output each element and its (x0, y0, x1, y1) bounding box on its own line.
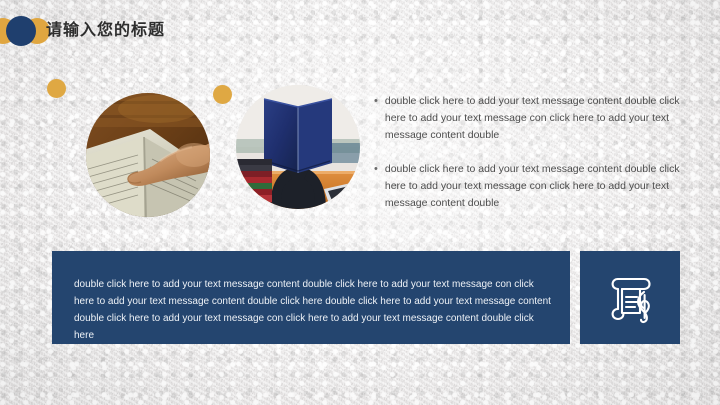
music-scroll-icon-graphic (604, 271, 656, 325)
bullet-marker-icon: • (374, 93, 378, 110)
bullet-text: double click here to add your text messa… (385, 161, 680, 212)
page-title: 请输入您的标题 (46, 16, 165, 40)
bullet-text: double click here to add your text messa… (385, 93, 680, 144)
photo-reading-book-graphic (86, 93, 210, 217)
list-item: • double click here to add your text mes… (374, 161, 680, 212)
photo-person-book (236, 85, 360, 209)
presentation-slide: 请输入您的标题 (0, 0, 720, 405)
accent-dot-1 (47, 79, 66, 98)
photo-person-book-graphic (236, 85, 360, 209)
header-circle-navy-center (6, 16, 36, 46)
list-item: • double click here to add your text mes… (374, 93, 680, 144)
music-scroll-icon (604, 271, 656, 325)
photo-reading-book (86, 93, 210, 217)
accent-dot-2 (213, 85, 232, 104)
navy-icon-panel (580, 251, 680, 344)
navy-text-panel: double click here to add your text messa… (52, 251, 570, 344)
bullet-marker-icon: • (374, 161, 378, 178)
navy-panel-text: double click here to add your text messa… (74, 276, 552, 344)
bullet-list: • double click here to add your text mes… (374, 93, 680, 229)
